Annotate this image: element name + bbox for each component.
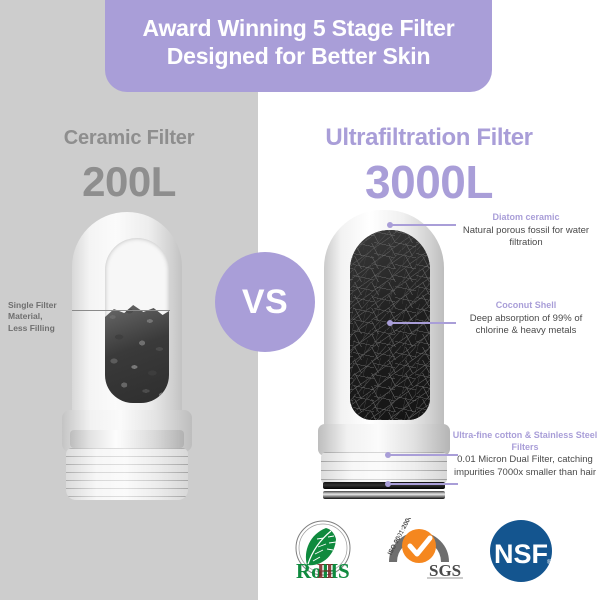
callout-3-description: 0.01 Micron Dual Filter, catching impuri… — [450, 454, 600, 479]
callout-ultrafine-cotton: Ultra-fine cotton & Stainless Steel Filt… — [450, 430, 600, 479]
callout-2-description: Deep absorption of 99% of chlorine & hea… — [453, 313, 599, 338]
header-banner: Award Winning 5 Stage Filter Designed fo… — [105, 0, 492, 92]
callout-1-anchor-dot — [387, 222, 393, 228]
ceramic-filter-volume: 200L — [0, 158, 258, 206]
ceramic-filter-housing — [72, 212, 182, 417]
callout-3-anchor-dot-lower — [385, 481, 391, 487]
ceramic-callout-line-3: Less Filling — [8, 323, 88, 334]
ceramic-filter-image — [62, 212, 192, 502]
callout-3-leader-line-upper — [388, 454, 458, 456]
ultrafiltration-filter-housing — [324, 210, 444, 432]
ultrafiltration-filter-image — [318, 210, 450, 505]
svg-text:®: ® — [547, 559, 552, 566]
callout-2-leader-line — [390, 322, 456, 324]
ceramic-filter-collar — [62, 410, 192, 452]
versus-badge: VS — [215, 252, 315, 352]
callout-3-anchor-dot-upper — [385, 452, 391, 458]
badge-nsf: NSF ® — [485, 518, 557, 589]
rohs-icon: RoHS H — [290, 518, 362, 584]
callout-diatom-ceramic: Diatom ceramic Natural porous fossil for… — [455, 212, 597, 250]
ceramic-filter-window — [105, 238, 169, 403]
callout-coconut-shell: Coconut Shell Deep absorption of 99% of … — [453, 300, 599, 338]
callout-2-title: Coconut Shell — [453, 300, 599, 312]
ceramic-filter-threaded-base — [66, 448, 188, 500]
ultrafiltration-filter-title: Ultrafiltration Filter — [258, 124, 600, 152]
callout-1-leader-line — [390, 224, 456, 226]
ceramic-filter-carbon-granules — [105, 303, 169, 403]
banner-line-1: Award Winning 5 Stage Filter — [143, 14, 455, 42]
svg-text:H: H — [317, 559, 333, 583]
banner-line-2: Designed for Better Skin — [167, 42, 431, 70]
callout-3-title: Ultra-fine cotton & Stainless Steel Filt… — [450, 430, 600, 453]
nsf-icon: NSF ® — [485, 518, 557, 584]
ultrafiltration-filter-volume: 3000L — [258, 155, 600, 209]
ultrafiltration-filter-seal-ring-lower — [323, 491, 445, 499]
sgs-iso-icon: ISO 9001:2000 SYSTEM SGS — [383, 518, 465, 584]
certification-badge-row: RoHS H ISO 9001:2000 SYSTEM SGS NSF ® — [280, 518, 590, 590]
ceramic-callout: Single Filter Material, Less Filling — [8, 300, 88, 334]
callout-2-anchor-dot — [387, 320, 393, 326]
badge-sgs: ISO 9001:2000 SYSTEM SGS — [383, 518, 465, 589]
ceramic-callout-line-2: Material, — [8, 311, 88, 322]
ceramic-filter-title: Ceramic Filter — [0, 127, 258, 150]
callout-1-title: Diatom ceramic — [455, 212, 597, 224]
svg-text:SGS: SGS — [429, 561, 461, 580]
callout-3-leader-line-lower — [388, 483, 458, 485]
svg-text:NSF: NSF — [494, 539, 548, 569]
product-comparison-infographic: Award Winning 5 Stage Filter Designed fo… — [0, 0, 600, 600]
ultrafiltration-filter-ribbed-base — [321, 452, 447, 484]
badge-rohs: RoHS H — [290, 518, 362, 589]
ceramic-callout-line-1: Single Filter — [8, 300, 88, 311]
callout-1-description: Natural porous fossil for water filtrati… — [455, 225, 597, 250]
